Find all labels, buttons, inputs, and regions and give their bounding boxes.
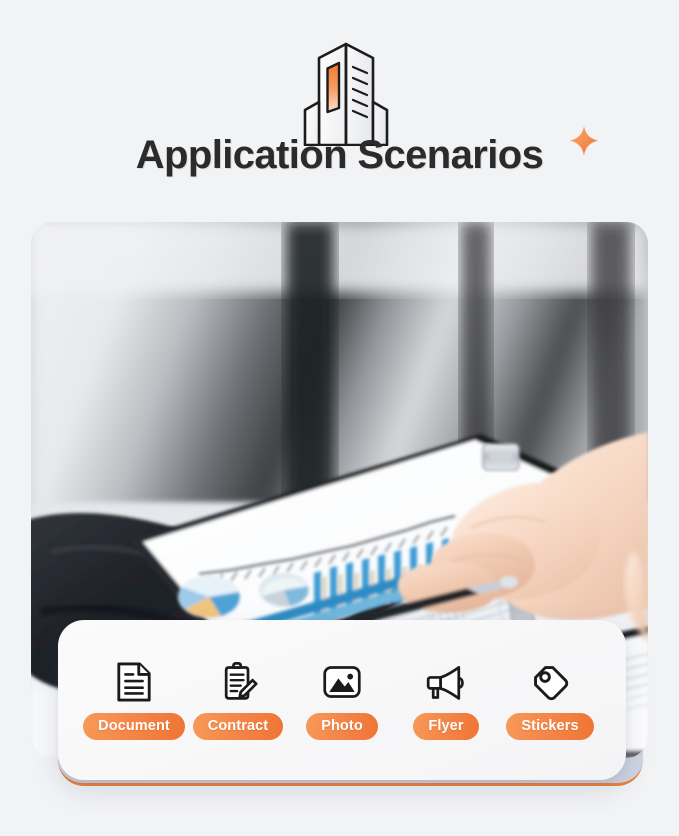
page-header: Application Scenarios (0, 0, 679, 212)
label-item-contract[interactable]: Contract (186, 661, 290, 740)
labels-row: Document (58, 620, 626, 780)
label-pill-photo[interactable]: Photo (306, 713, 378, 740)
label-pill-stickers[interactable]: Stickers (506, 713, 593, 740)
label-pill-flyer[interactable]: Flyer (413, 713, 478, 740)
label-item-photo[interactable]: Photo (290, 661, 394, 740)
hero-section: Document (31, 222, 648, 788)
label-item-stickers[interactable]: Stickers (498, 661, 602, 740)
price-tag-icon (531, 661, 569, 703)
sparkle-icon (567, 124, 601, 158)
label-item-flyer[interactable]: Flyer (394, 661, 498, 740)
megaphone-icon (425, 661, 467, 703)
label-pill-document[interactable]: Document (83, 713, 185, 740)
label-pill-contract[interactable]: Contract (193, 713, 283, 740)
clipboard-pencil-icon (218, 661, 258, 703)
building-icon (285, 36, 407, 146)
label-item-document[interactable]: Document (82, 661, 186, 740)
labels-panel: Document (58, 620, 626, 780)
image-icon (322, 661, 362, 703)
document-icon (115, 661, 153, 703)
